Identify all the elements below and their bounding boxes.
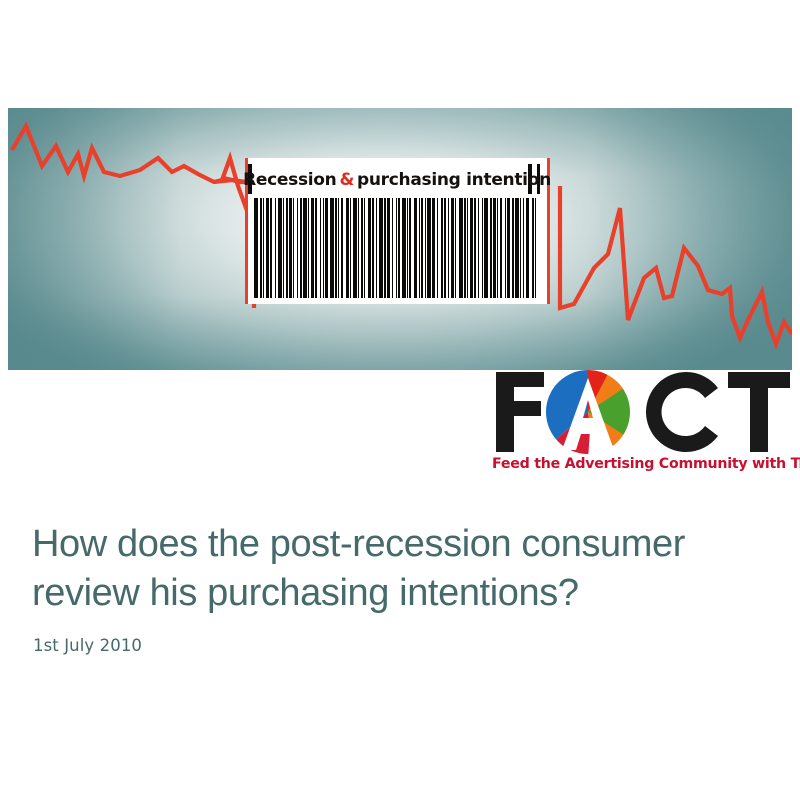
barcode-bar bbox=[283, 198, 284, 298]
barcode-bar bbox=[315, 198, 317, 298]
barcode-bar bbox=[387, 198, 390, 298]
barcode-caption-ampersand: & bbox=[336, 170, 357, 190]
barcode-bar bbox=[512, 198, 514, 298]
barcode-bar bbox=[263, 198, 264, 298]
barcode-bar bbox=[432, 198, 435, 298]
barcode-bar bbox=[427, 198, 431, 298]
barcode-bar bbox=[490, 198, 492, 298]
barcode-bar bbox=[459, 198, 463, 298]
barcode-bar bbox=[520, 198, 521, 298]
barcode-bar bbox=[254, 198, 258, 298]
barcode-bar bbox=[464, 198, 466, 298]
barcode-bar bbox=[372, 198, 374, 298]
barcode-bar bbox=[278, 198, 282, 298]
barcode-bar bbox=[330, 198, 334, 298]
barcode-bar bbox=[484, 198, 488, 298]
barcode-bars bbox=[254, 198, 538, 298]
barcode-bar bbox=[308, 198, 309, 298]
barcode-bar bbox=[325, 198, 328, 298]
barcode-bar bbox=[455, 198, 456, 298]
barcode-bar bbox=[451, 198, 454, 298]
barcode-bar bbox=[467, 198, 468, 298]
fact-logo: Feed the Advertising Community with Tren… bbox=[490, 370, 792, 478]
barcode-bar bbox=[507, 198, 510, 298]
slide-title-block: How does the post-recession consumer rev… bbox=[32, 520, 752, 655]
barcode-caption-before: Recession bbox=[243, 170, 336, 190]
barcode-bar bbox=[275, 198, 276, 298]
barcode-bar bbox=[437, 198, 438, 298]
barcode-bar bbox=[478, 198, 479, 298]
barcode-bar bbox=[482, 198, 483, 298]
barcode-bar bbox=[444, 198, 446, 298]
barcode-bar bbox=[392, 198, 393, 298]
barcode-bar bbox=[346, 198, 349, 298]
barcode-bar bbox=[289, 198, 292, 298]
barcode-bar bbox=[526, 198, 529, 298]
barcode-bar bbox=[350, 198, 351, 298]
barcode-bar bbox=[523, 198, 524, 298]
barcode-bar bbox=[500, 198, 502, 298]
barcode-bar bbox=[266, 198, 269, 298]
barcode-bar bbox=[286, 198, 288, 298]
logo-letter-c bbox=[646, 372, 718, 452]
page-title: How does the post-recession consumer rev… bbox=[32, 520, 752, 618]
barcode-bar bbox=[402, 198, 406, 298]
barcode-caption-after: purchasing intention bbox=[357, 170, 551, 190]
barcode-caption: Recession & purchasing intention bbox=[252, 167, 542, 193]
barcode-bar bbox=[396, 198, 397, 298]
barcode-bar bbox=[493, 198, 496, 298]
barcode-bar bbox=[398, 198, 400, 298]
logo-letter-f bbox=[496, 372, 544, 452]
barcode-bar bbox=[409, 198, 411, 298]
barcode-bar bbox=[297, 198, 298, 298]
barcode-bar bbox=[320, 198, 321, 298]
trend-line-right bbox=[560, 186, 792, 344]
slide-date: 1st July 2010 bbox=[33, 636, 752, 655]
barcode-bar bbox=[270, 198, 272, 298]
barcode-bar bbox=[293, 198, 294, 298]
barcode-bar bbox=[474, 198, 476, 298]
barcode-bar bbox=[311, 198, 314, 298]
barcode-bar bbox=[532, 198, 534, 298]
barcode-bar bbox=[358, 198, 359, 298]
barcode-bar bbox=[335, 198, 337, 298]
barcode-bar bbox=[419, 198, 420, 298]
barcode-bar bbox=[368, 198, 371, 298]
logo-a-mark bbox=[546, 370, 632, 454]
barcode-bar bbox=[414, 198, 417, 298]
barcode-bar bbox=[338, 198, 339, 298]
barcode-bar bbox=[470, 198, 473, 298]
barcode-bar bbox=[384, 198, 386, 298]
barcode-bar bbox=[505, 198, 506, 298]
barcode-bar bbox=[300, 198, 302, 298]
barcode-bar bbox=[303, 198, 307, 298]
barcode-graphic: Recession & purchasing intention bbox=[240, 158, 554, 304]
fact-wordmark bbox=[490, 370, 792, 454]
barcode-bar bbox=[361, 198, 363, 298]
barcode-bar bbox=[376, 198, 377, 298]
trend-line-left bbox=[12, 126, 246, 182]
recession-banner-image: Recession & purchasing intention bbox=[8, 108, 792, 370]
barcode-bar bbox=[425, 198, 426, 298]
barcode-bar bbox=[441, 198, 443, 298]
barcode-bar bbox=[497, 198, 498, 298]
barcode-bar bbox=[535, 198, 536, 298]
barcode-bar bbox=[260, 198, 262, 298]
barcode-bar bbox=[407, 198, 408, 298]
barcode-bar bbox=[448, 198, 449, 298]
barcode-bar bbox=[364, 198, 365, 298]
barcode-bar bbox=[421, 198, 423, 298]
barcode-bar bbox=[341, 198, 343, 298]
fact-tagline: Feed the Advertising Community with Tren… bbox=[492, 456, 792, 472]
barcode-bar bbox=[515, 198, 519, 298]
barcode-bar bbox=[323, 198, 324, 298]
barcode-bar bbox=[353, 198, 357, 298]
barcode-bar bbox=[379, 198, 383, 298]
logo-letter-t bbox=[728, 372, 790, 452]
